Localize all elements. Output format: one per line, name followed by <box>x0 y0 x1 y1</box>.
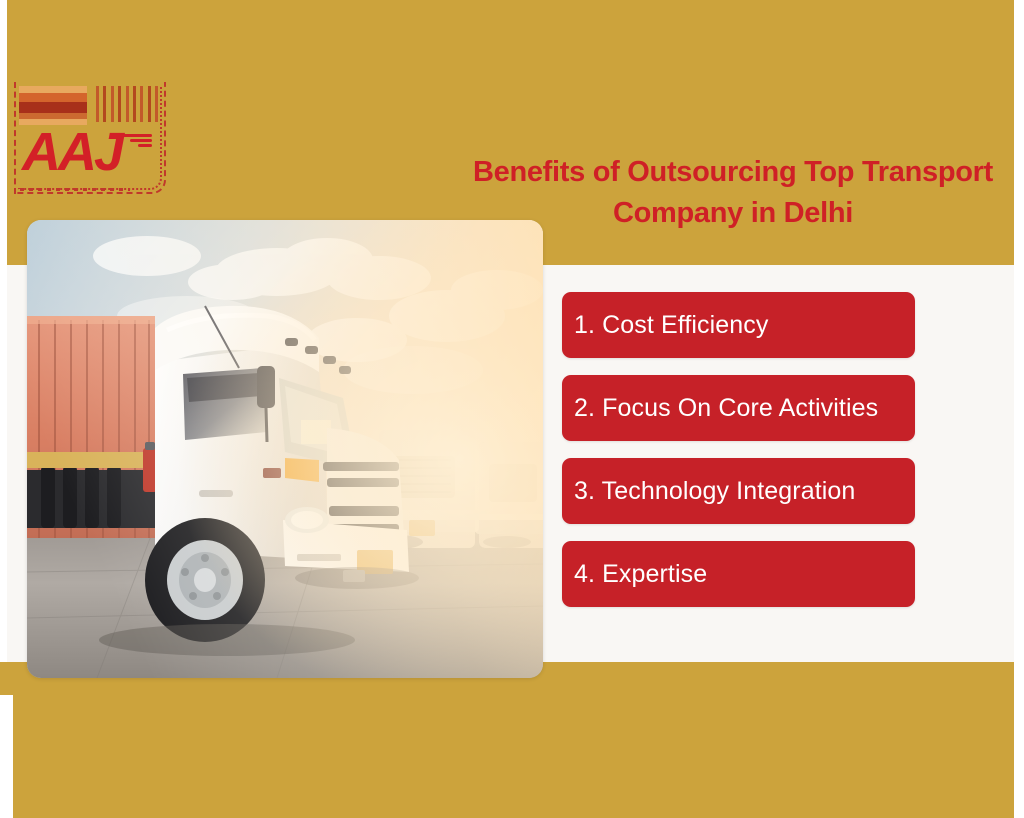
gold-footer-band <box>13 662 1014 818</box>
left-margin-notch-bottom <box>0 695 13 818</box>
list-item[interactable]: 4. Expertise <box>562 541 915 607</box>
page-title-line-1: Benefits of Outsourcing Top Transport <box>440 152 1024 193</box>
logo-wordmark: AAJ <box>22 124 162 180</box>
left-margin-notch-top <box>0 0 7 265</box>
list-item-label: 3. Technology Integration <box>574 477 855 506</box>
logo-stripe-bars-icon <box>19 86 87 124</box>
list-item-label: 2. Focus On Core Activities <box>574 394 878 423</box>
list-item-label: 4. Expertise <box>574 560 707 589</box>
list-item[interactable]: 1. Cost Efficiency <box>562 292 915 358</box>
logo-dotted-rule <box>20 188 130 191</box>
logo-speed-lines-icon <box>118 134 152 148</box>
benefits-list: 1. Cost Efficiency 2. Focus On Core Acti… <box>562 292 915 607</box>
infographic-canvas: AAJ Benefits of Outsourcing Top Transpor… <box>0 0 1024 818</box>
aaj-logo[interactable]: AAJ <box>14 82 166 194</box>
truck-fleet-photo <box>27 220 543 678</box>
list-item[interactable]: 2. Focus On Core Activities <box>562 375 915 441</box>
list-item-label: 1. Cost Efficiency <box>574 311 768 340</box>
logo-tick-marks-icon <box>96 86 158 122</box>
right-margin-edge <box>1014 0 1024 818</box>
truck-fleet-illustration <box>27 220 543 678</box>
list-item[interactable]: 3. Technology Integration <box>562 458 915 524</box>
